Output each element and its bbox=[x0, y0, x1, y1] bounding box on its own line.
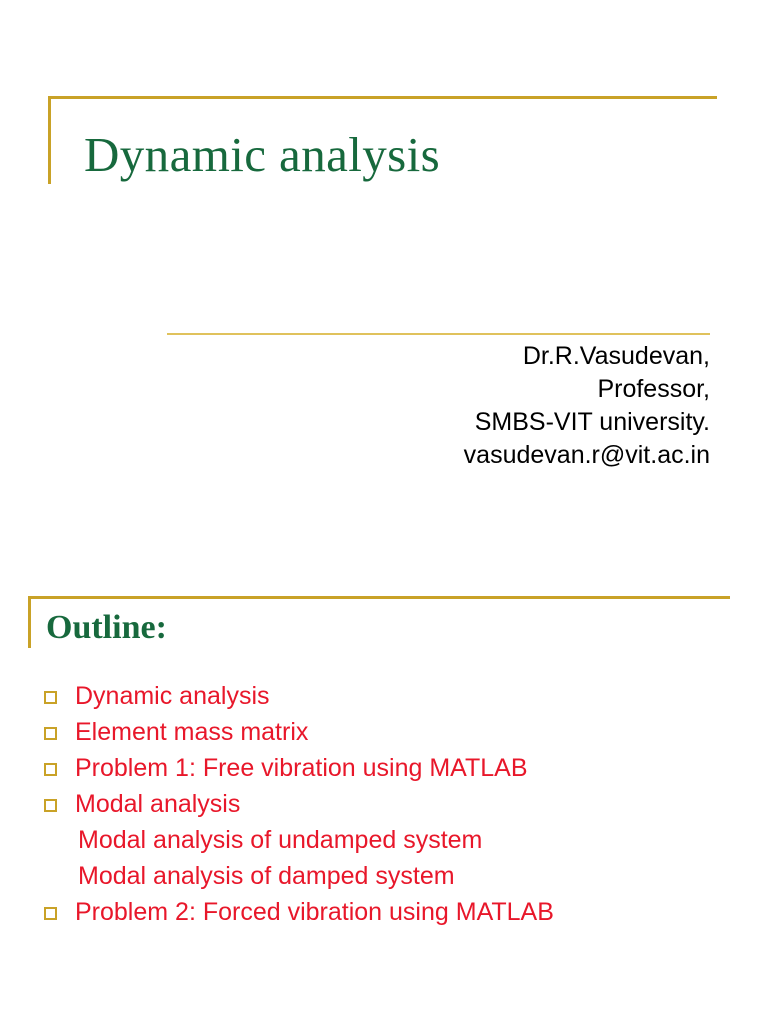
presentation-slide: Dynamic analysis Dr.R.Vasudevan, Profess… bbox=[0, 0, 768, 1024]
list-item: Dynamic analysis bbox=[0, 678, 768, 714]
author-name: Dr.R.Vasudevan, bbox=[210, 340, 710, 373]
hollow-square-bullet-icon bbox=[44, 727, 57, 740]
outline-top-rule-decoration bbox=[28, 596, 730, 599]
list-item-label: Modal analysis bbox=[75, 786, 240, 822]
hollow-square-bullet-icon bbox=[44, 763, 57, 776]
hollow-square-bullet-icon bbox=[44, 691, 57, 704]
author-affiliation: SMBS-VIT university. bbox=[210, 406, 710, 439]
hollow-square-bullet-icon bbox=[44, 907, 57, 920]
outline-heading: Outline: bbox=[46, 610, 167, 646]
list-item-label: Dynamic analysis bbox=[75, 678, 270, 714]
page-title: Dynamic analysis bbox=[84, 130, 440, 179]
outline-left-rule-decoration bbox=[28, 596, 31, 648]
outline-list: Dynamic analysisElement mass matrixProbl… bbox=[0, 678, 768, 930]
list-item-label: Problem 2: Forced vibration using MATLAB bbox=[75, 894, 554, 930]
list-item-label: Problem 1: Free vibration using MATLAB bbox=[75, 750, 528, 786]
list-item-label: Modal analysis of damped system bbox=[78, 858, 455, 894]
author-divider-rule bbox=[167, 333, 710, 335]
outline-section: Outline: Dynamic analysisElement mass ma… bbox=[0, 560, 768, 1024]
list-item: Modal analysis of undamped system bbox=[0, 822, 768, 858]
list-item: Element mass matrix bbox=[0, 714, 768, 750]
list-item-label: Element mass matrix bbox=[75, 714, 308, 750]
title-section: Dynamic analysis Dr.R.Vasudevan, Profess… bbox=[0, 0, 768, 560]
hollow-square-bullet-icon bbox=[44, 799, 57, 812]
list-item: Modal analysis bbox=[0, 786, 768, 822]
list-item: Problem 1: Free vibration using MATLAB bbox=[0, 750, 768, 786]
title-top-rule-decoration bbox=[48, 96, 717, 99]
list-item-label: Modal analysis of undamped system bbox=[78, 822, 482, 858]
list-item: Problem 2: Forced vibration using MATLAB bbox=[0, 894, 768, 930]
author-designation: Professor, bbox=[210, 373, 710, 406]
author-block: Dr.R.Vasudevan, Professor, SMBS-VIT univ… bbox=[210, 340, 710, 472]
title-left-rule-decoration bbox=[48, 96, 51, 184]
list-item: Modal analysis of damped system bbox=[0, 858, 768, 894]
author-email: vasudevan.r@vit.ac.in bbox=[210, 439, 710, 472]
